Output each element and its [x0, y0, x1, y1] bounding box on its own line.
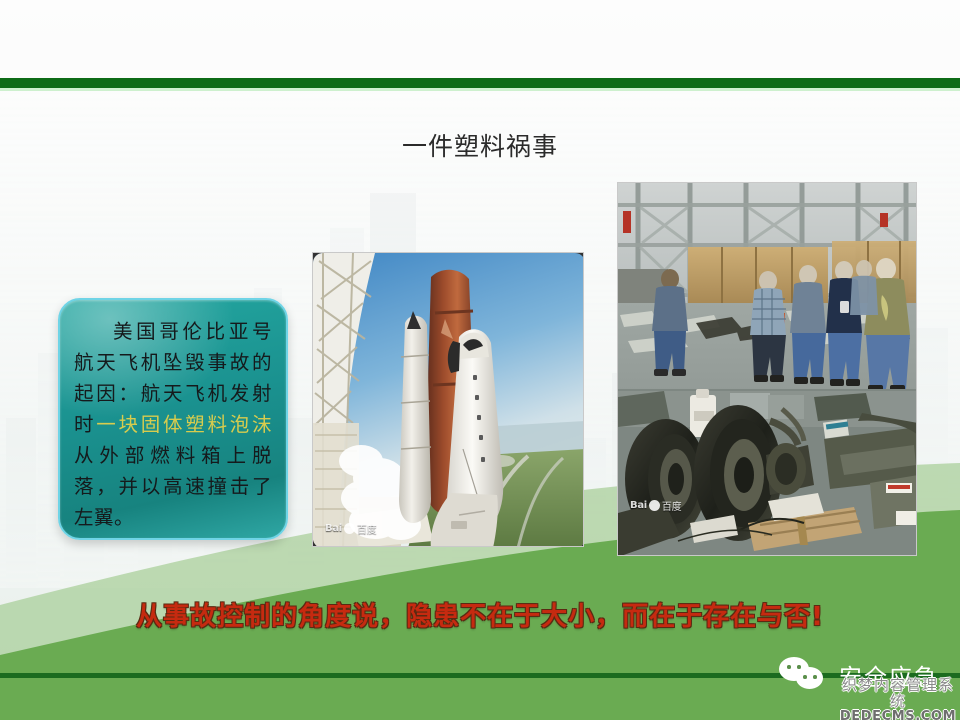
wechat-icon: [779, 655, 831, 695]
callout-textbox: 美国哥伦比亚号航天飞机坠毁事故的起因：航天飞机发射时一块固体塑料泡沫从外部燃料箱…: [58, 298, 288, 540]
image-shuttle-debris-investigation-hangar: Bai 百度: [617, 182, 917, 556]
slide-caption: 从事故控制的角度说，隐患不在于大小，而在于存在与否!: [0, 600, 960, 634]
wechat-account-name: 安全应急: [839, 658, 939, 692]
baidu-watermark: Bai 百度: [325, 521, 376, 536]
baidu-watermark: Bai 百度: [630, 498, 681, 513]
top-green-rule-glow: [0, 88, 960, 91]
callout-text-highlight: 一块固体塑料泡沫: [96, 413, 272, 436]
wechat-account-badge: 安全应急: [779, 655, 939, 695]
presentation-slide: 一件塑料祸事 美国哥伦比亚号航天飞机坠毁事故的起因：航天飞机发射时一块固体塑料泡…: [0, 0, 960, 720]
top-green-rule: [0, 78, 960, 88]
baidu-paw-icon: [649, 500, 660, 511]
page-title: 一件塑料祸事: [0, 131, 960, 163]
image-space-shuttle-on-launch-pad: Bai 百度: [312, 252, 584, 547]
callout-text-after: 从外部燃料箱上脱落，并以高速撞击了左翼。: [74, 444, 272, 529]
callout-text: 美国哥伦比亚号航天飞机坠毁事故的起因：航天飞机发射时一块固体塑料泡沫从外部燃料箱…: [74, 316, 272, 533]
baidu-paw-icon: [344, 523, 355, 534]
